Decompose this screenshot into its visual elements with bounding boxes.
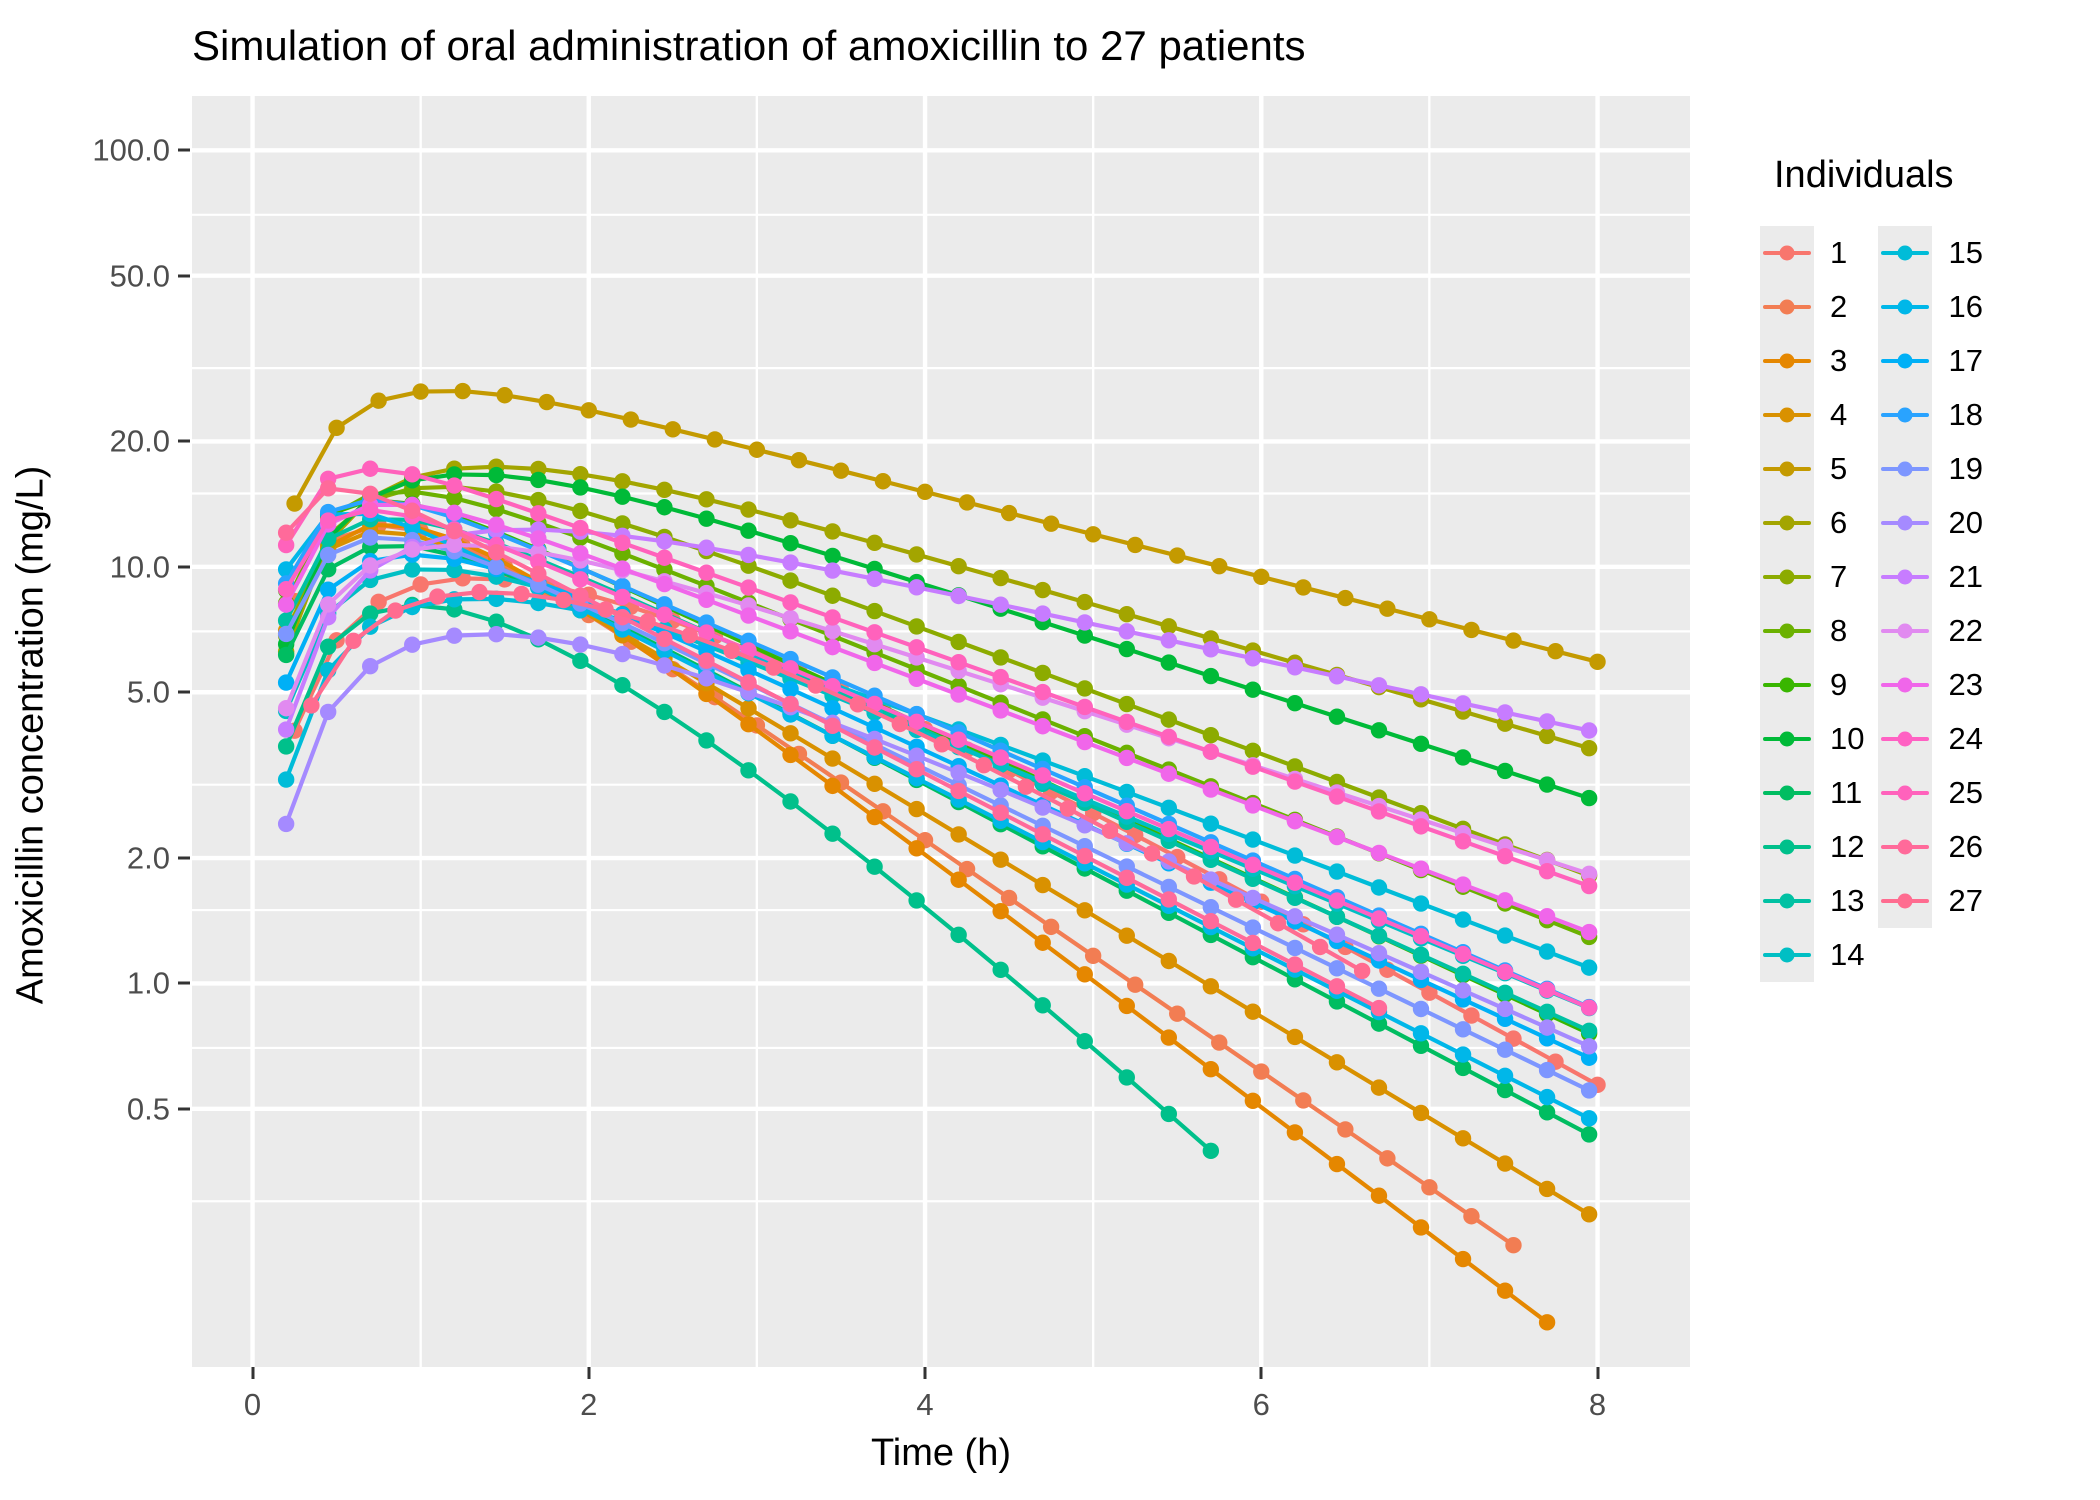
legend-label: 27 xyxy=(1932,874,1982,928)
legend-columns: 1234567891011121314151617181920212223242… xyxy=(1760,226,2090,982)
legend-column-2: 15161718192021222324252627 xyxy=(1878,226,1982,928)
legend-key-swatch xyxy=(1760,874,1814,928)
legend-label: 18 xyxy=(1932,388,1982,442)
y-tick-mark xyxy=(178,1107,190,1110)
x-tick-label: 0 xyxy=(244,1389,261,1420)
legend-key-swatch xyxy=(1760,712,1814,766)
legend-key-point-icon xyxy=(1898,462,1913,477)
y-tick-mark xyxy=(178,565,190,568)
legend-key-point-icon xyxy=(1898,732,1913,747)
y-tick-mark xyxy=(178,691,190,694)
plot-panel xyxy=(192,96,1690,1367)
legend-key-swatch xyxy=(1878,874,1932,928)
y-tick-mark xyxy=(178,274,190,277)
y-tick-label: 1.0 xyxy=(127,968,170,999)
y-tick-mark xyxy=(178,149,190,152)
legend-key-point-icon xyxy=(1898,354,1913,369)
legend-label: 7 xyxy=(1814,550,1847,604)
x-tick-mark xyxy=(587,1367,590,1379)
x-tick-mark xyxy=(1596,1367,1599,1379)
legend-key-swatch xyxy=(1760,550,1814,604)
legend-item-15[interactable]: 15 xyxy=(1878,226,1982,280)
legend-key-point-icon xyxy=(1898,840,1913,855)
legend-key-point-icon xyxy=(1898,300,1913,315)
y-tick-label: 2.0 xyxy=(127,843,170,874)
data-series xyxy=(278,538,1597,1143)
legend-item-5[interactable]: 5 xyxy=(1760,442,1864,496)
legend-key-swatch xyxy=(1878,550,1932,604)
legend-key-point-icon xyxy=(1898,678,1913,693)
legend-key-point-icon xyxy=(1898,894,1913,909)
y-tick-label: 5.0 xyxy=(127,677,170,708)
legend-item-19[interactable]: 19 xyxy=(1878,442,1982,496)
legend-key-point-icon xyxy=(1780,786,1795,801)
legend-item-16[interactable]: 16 xyxy=(1878,280,1982,334)
legend-key-point-icon xyxy=(1898,246,1913,261)
legend-key-point-icon xyxy=(1780,354,1795,369)
legend-item-12[interactable]: 12 xyxy=(1760,820,1864,874)
legend-label: 11 xyxy=(1814,766,1862,820)
data-series xyxy=(286,517,1521,1254)
legend-label: 15 xyxy=(1932,226,1982,280)
legend-item-25[interactable]: 25 xyxy=(1878,766,1982,820)
y-tick-label: 0.5 xyxy=(127,1093,170,1124)
data-series xyxy=(278,523,1597,1222)
legend-key-swatch xyxy=(1878,820,1932,874)
x-tick-mark xyxy=(924,1367,927,1379)
x-tick-label: 8 xyxy=(1589,1389,1606,1420)
legend-key-point-icon xyxy=(1898,786,1913,801)
legend-key-swatch xyxy=(1760,928,1814,982)
legend-key-swatch xyxy=(1760,388,1814,442)
y-tick-mark xyxy=(178,982,190,985)
legend-key-point-icon xyxy=(1780,732,1795,747)
legend-key-point-icon xyxy=(1898,408,1913,423)
legend-label: 25 xyxy=(1932,766,1982,820)
legend-key-swatch xyxy=(1878,604,1932,658)
legend-key-point-icon xyxy=(1898,624,1913,639)
legend-key-swatch xyxy=(1878,766,1932,820)
data-series xyxy=(278,491,1597,1015)
y-axis-tick-labels: 100.050.020.010.05.02.01.00.5 xyxy=(40,96,170,1367)
legend-item-14[interactable]: 14 xyxy=(1760,928,1864,982)
legend-key-point-icon xyxy=(1780,624,1795,639)
y-tick-mark xyxy=(178,440,190,443)
legend-key-point-icon xyxy=(1780,300,1795,315)
legend-key-point-icon xyxy=(1780,246,1795,261)
legend-item-13[interactable]: 13 xyxy=(1760,874,1864,928)
legend-key-point-icon xyxy=(1780,570,1795,585)
page-title: Simulation of oral administration of amo… xyxy=(192,18,1692,74)
y-tick-label: 50.0 xyxy=(110,260,170,291)
legend-key-point-icon xyxy=(1898,570,1913,585)
chart-root: Simulation of oral administration of amo… xyxy=(0,0,2100,1500)
legend-item-9[interactable]: 9 xyxy=(1760,658,1864,712)
legend-label: 22 xyxy=(1932,604,1982,658)
legend-column-1: 1234567891011121314 xyxy=(1760,226,1864,982)
legend-label: 1 xyxy=(1814,226,1847,280)
legend-label: 23 xyxy=(1932,658,1982,712)
legend-key-swatch xyxy=(1878,226,1932,280)
legend-key-point-icon xyxy=(1780,462,1795,477)
legend-item-18[interactable]: 18 xyxy=(1878,388,1982,442)
legend-label: 24 xyxy=(1932,712,1982,766)
x-axis-title: Time (h) xyxy=(192,1430,1690,1476)
legend-item-6[interactable]: 6 xyxy=(1760,496,1864,550)
legend-item-10[interactable]: 10 xyxy=(1760,712,1864,766)
legend-label: 12 xyxy=(1814,820,1864,874)
legend-key-swatch xyxy=(1878,658,1932,712)
legend-item-1[interactable]: 1 xyxy=(1760,226,1864,280)
legend-key-point-icon xyxy=(1898,516,1913,531)
data-series-layer xyxy=(192,96,1690,1367)
legend-key-swatch xyxy=(1760,442,1814,496)
legend-label: 6 xyxy=(1814,496,1847,550)
legend-key-swatch xyxy=(1760,604,1814,658)
data-series xyxy=(278,517,1555,1331)
legend-label: 8 xyxy=(1814,604,1847,658)
legend-key-swatch xyxy=(1878,334,1932,388)
legend-item-26[interactable]: 26 xyxy=(1878,820,1982,874)
x-tick-mark xyxy=(251,1367,254,1379)
y-tick-label: 20.0 xyxy=(110,426,170,457)
legend-item-2[interactable]: 2 xyxy=(1760,280,1864,334)
x-axis-tick-marks: 02468 xyxy=(192,1367,1690,1437)
y-tick-label: 100.0 xyxy=(92,135,170,166)
legend-key-point-icon xyxy=(1780,408,1795,423)
x-tick-label: 4 xyxy=(916,1389,933,1420)
x-tick-label: 2 xyxy=(580,1389,597,1420)
legend-key-swatch xyxy=(1878,442,1932,496)
y-tick-mark xyxy=(178,857,190,860)
legend-label: 13 xyxy=(1814,874,1864,928)
legend-item-27[interactable]: 27 xyxy=(1878,874,1982,928)
legend-key-point-icon xyxy=(1780,894,1795,909)
legend-item-24[interactable]: 24 xyxy=(1878,712,1982,766)
legend-label: 19 xyxy=(1932,442,1982,496)
legend-key-swatch xyxy=(1760,226,1814,280)
legend-label: 10 xyxy=(1814,712,1864,766)
legend-key-swatch xyxy=(1760,658,1814,712)
legend-key-swatch xyxy=(1878,388,1932,442)
legend-item-20[interactable]: 20 xyxy=(1878,496,1982,550)
legend-label: 16 xyxy=(1932,280,1982,334)
legend-key-swatch xyxy=(1760,820,1814,874)
legend-key-swatch xyxy=(1760,766,1814,820)
legend-item-22[interactable]: 22 xyxy=(1878,604,1982,658)
legend-item-23[interactable]: 23 xyxy=(1878,658,1982,712)
legend-key-swatch xyxy=(1760,334,1814,388)
legend-item-21[interactable]: 21 xyxy=(1878,550,1982,604)
legend-item-3[interactable]: 3 xyxy=(1760,334,1864,388)
legend-key-swatch xyxy=(1878,712,1932,766)
legend-item-7[interactable]: 7 xyxy=(1760,550,1864,604)
legend-item-17[interactable]: 17 xyxy=(1878,334,1982,388)
y-tick-label: 10.0 xyxy=(110,551,170,582)
legend: Individuals 1234567891011121314151617181… xyxy=(1760,150,2090,982)
legend-key-point-icon xyxy=(1780,948,1795,963)
legend-key-point-icon xyxy=(1780,678,1795,693)
legend-label: 5 xyxy=(1814,442,1847,496)
data-series xyxy=(286,570,1605,1093)
x-tick-mark xyxy=(1260,1367,1263,1379)
legend-label: 2 xyxy=(1814,280,1847,334)
legend-item-8[interactable]: 8 xyxy=(1760,604,1864,658)
legend-key-swatch xyxy=(1760,496,1814,550)
legend-key-swatch xyxy=(1878,280,1932,334)
legend-key-swatch xyxy=(1760,280,1814,334)
legend-title: Individuals xyxy=(1774,150,2090,200)
x-tick-label: 6 xyxy=(1253,1389,1270,1420)
legend-label: 17 xyxy=(1932,334,1982,388)
legend-label: 21 xyxy=(1932,550,1982,604)
legend-item-4[interactable]: 4 xyxy=(1760,388,1864,442)
legend-key-point-icon xyxy=(1780,840,1795,855)
legend-key-point-icon xyxy=(1780,516,1795,531)
legend-item-11[interactable]: 11 xyxy=(1760,766,1864,820)
legend-label: 3 xyxy=(1814,334,1847,388)
legend-label: 9 xyxy=(1814,658,1847,712)
legend-label: 14 xyxy=(1814,928,1864,982)
legend-label: 26 xyxy=(1932,820,1982,874)
legend-label: 4 xyxy=(1814,388,1847,442)
legend-label: 20 xyxy=(1932,496,1982,550)
legend-key-swatch xyxy=(1878,496,1932,550)
